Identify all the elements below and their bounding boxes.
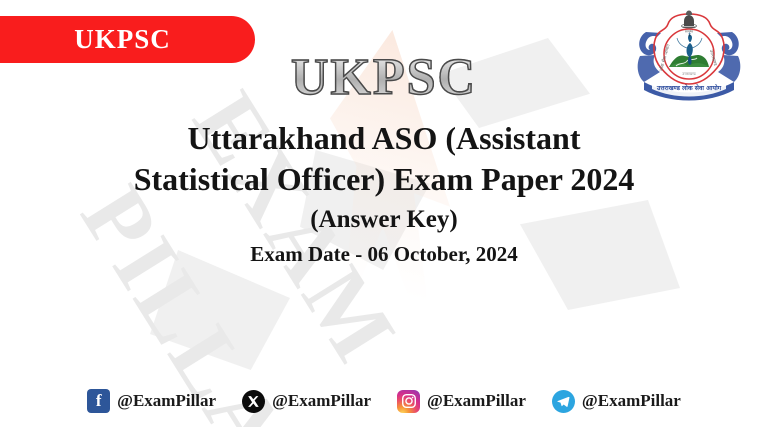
exam-title-line-1: Uttarakhand ASO (Assistant <box>29 118 739 159</box>
social-item-instagram[interactable]: @ExamPillar <box>397 390 526 413</box>
instagram-icon[interactable] <box>397 390 420 413</box>
exam-title: Uttarakhand ASO (Assistant Statistical O… <box>29 118 739 200</box>
ukpsc-badge-label: UKPSC <box>56 24 171 55</box>
x-twitter-handle: @ExamPillar <box>272 391 371 411</box>
exam-date: Exam Date - 06 October, 2024 <box>0 242 768 267</box>
ukpsc-badge: UKPSC <box>0 16 255 63</box>
watermark-shard <box>150 250 290 370</box>
svg-text:उत्तराखण्ड लोक सेवा आयोग: उत्तराखण्ड लोक सेवा आयोग <box>656 84 722 92</box>
facebook-handle: @ExamPillar <box>117 391 216 411</box>
svg-text:उत्तराखण्ड: उत्तराखण्ड <box>682 72 695 76</box>
instagram-handle: @ExamPillar <box>427 391 526 411</box>
social-item-telegram[interactable]: @ExamPillar <box>552 390 681 413</box>
svg-text:सत्यमेव: सत्यमेव <box>685 30 693 34</box>
ukpsc-emblem-icon: उत्तराखण्ड लोक सेवा आयोग लोक सेवा आयोग उ… <box>630 4 748 116</box>
exam-title-line-2: Statistical Officer) Exam Paper 2024 <box>29 159 739 200</box>
answer-key-subtitle: (Answer Key) <box>0 206 768 234</box>
facebook-icon[interactable]: f <box>87 389 110 413</box>
social-item-facebook[interactable]: f @ExamPillar <box>87 389 216 413</box>
x-twitter-icon[interactable] <box>242 390 265 413</box>
social-bar: f @ExamPillar @ExamPillar @ExamPillar <box>0 389 768 413</box>
telegram-handle: @ExamPillar <box>582 391 681 411</box>
telegram-icon[interactable] <box>552 390 575 413</box>
social-item-x-twitter[interactable]: @ExamPillar <box>242 390 371 413</box>
exam-paper-banner: EXAM PILLAR UKPSC उत्तराखण्ड लोक सेवा आय… <box>0 0 768 427</box>
